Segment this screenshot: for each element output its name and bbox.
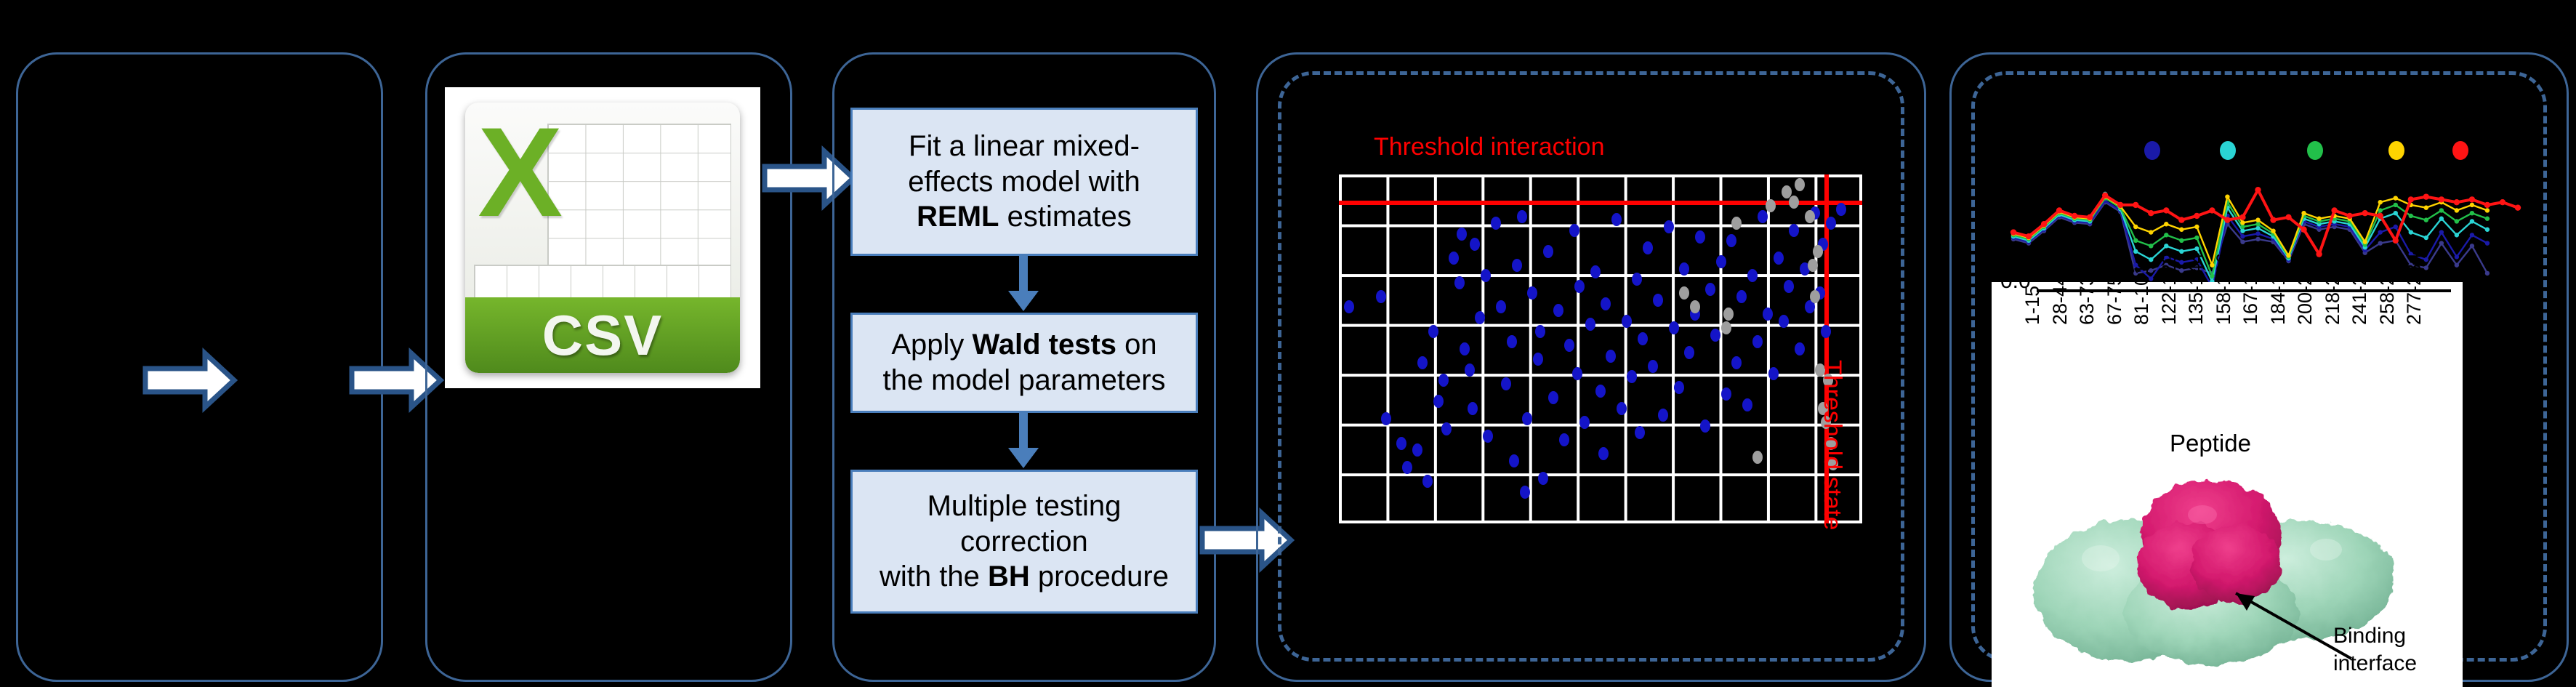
chart-marker bbox=[2394, 203, 2398, 207]
step-correction-emphasis: BH bbox=[988, 561, 1030, 592]
chart-marker bbox=[2394, 225, 2398, 229]
scatter-point bbox=[1438, 374, 1449, 387]
arrow-model-to-wald bbox=[1005, 256, 1042, 313]
peptide-tick-label: 28-44 bbox=[2049, 275, 2072, 325]
chart-marker bbox=[2470, 233, 2474, 237]
scatter-chart[interactable]: Threshold interaction Threshold state bbox=[1294, 109, 1890, 603]
step-correction-box[interactable]: Multiple testing correction with the BH … bbox=[850, 470, 1198, 614]
scatter-point bbox=[1512, 259, 1522, 272]
flowchart-canvas: X CSV Fit a linear mixed- effects model … bbox=[0, 0, 2576, 687]
chart-marker bbox=[2255, 217, 2260, 222]
scatter-point bbox=[1808, 259, 1818, 272]
chart-marker bbox=[2424, 205, 2428, 209]
chart-marker bbox=[2455, 208, 2459, 212]
chart-marker bbox=[2149, 257, 2153, 262]
scatter-point bbox=[1716, 255, 1726, 268]
chart-marker bbox=[2149, 230, 2153, 234]
scatter-point bbox=[1527, 286, 1537, 300]
peptide-tick-label: 167-180 bbox=[2239, 253, 2262, 325]
chart-marker bbox=[2194, 236, 2199, 240]
chart-marker bbox=[2470, 244, 2474, 248]
scatter-point bbox=[1520, 486, 1530, 499]
chart-marker bbox=[2515, 204, 2521, 210]
step-correction-line2: correction bbox=[960, 526, 1088, 558]
chart-marker bbox=[2240, 220, 2245, 225]
chart-marker bbox=[2179, 228, 2183, 232]
scatter-point bbox=[1598, 447, 1609, 460]
chart-marker bbox=[2362, 239, 2367, 244]
scatter-point bbox=[1507, 335, 1517, 348]
chart-marker bbox=[2470, 219, 2474, 223]
chart-marker bbox=[2149, 244, 2153, 248]
chart-marker bbox=[2178, 217, 2184, 222]
peptide-tick-label: 81-101 bbox=[2130, 264, 2153, 325]
scatter-point bbox=[1569, 224, 1579, 237]
scatter-point bbox=[1590, 265, 1601, 278]
chart-marker bbox=[2255, 222, 2260, 226]
scatter-point bbox=[1564, 339, 1574, 352]
chart-marker bbox=[2455, 262, 2459, 267]
chart-marker bbox=[2331, 207, 2337, 213]
scatter-point bbox=[1768, 367, 1779, 380]
y-axis-tick-label: 0.0 bbox=[2000, 269, 2031, 294]
scatter-point bbox=[1836, 203, 1846, 216]
scatter-point bbox=[1821, 325, 1831, 338]
chart-marker bbox=[2301, 211, 2306, 215]
chart-marker bbox=[2409, 230, 2413, 234]
chart-marker bbox=[2255, 226, 2260, 230]
chart-marker bbox=[2285, 214, 2291, 220]
scatter-point-layer bbox=[1339, 174, 1862, 523]
scatter-point bbox=[1674, 381, 1684, 394]
scatter-point bbox=[1795, 342, 1805, 355]
csv-format-band: CSV bbox=[465, 297, 740, 373]
scatter-point bbox=[1690, 300, 1700, 313]
chart-marker bbox=[2163, 207, 2169, 213]
step-wald-text: Apply Wald tests on the model parameters bbox=[882, 327, 1165, 398]
chart-marker bbox=[2239, 214, 2245, 220]
chart-marker bbox=[2133, 249, 2138, 254]
chart-marker bbox=[2026, 233, 2032, 239]
threshold-state-label: Threshold state bbox=[1818, 360, 1846, 530]
scatter-point bbox=[1635, 426, 1645, 439]
scatter-point bbox=[1396, 437, 1406, 450]
scatter-point bbox=[1457, 228, 1467, 241]
chart-marker bbox=[2470, 211, 2474, 215]
chart-marker bbox=[2011, 229, 2016, 235]
chart-marker bbox=[2270, 217, 2276, 222]
scatter-point bbox=[1412, 443, 1422, 457]
scatter-point bbox=[1752, 451, 1763, 464]
scatter-point bbox=[1789, 196, 1799, 209]
scatter-point bbox=[1679, 286, 1689, 300]
peptide-uptake-chart[interactable] bbox=[1993, 153, 2531, 298]
scatter-point bbox=[1433, 395, 1444, 408]
scatter-point bbox=[1810, 290, 1820, 303]
peptide-tick-label: 63-73 bbox=[2076, 275, 2098, 325]
scatter-point bbox=[1585, 318, 1595, 331]
scatter-point bbox=[1481, 269, 1491, 282]
binding-interface-line1: Binding bbox=[2333, 624, 2406, 648]
chart-marker bbox=[2255, 187, 2261, 193]
peptide-axis-title: Peptide bbox=[2170, 430, 2251, 457]
scatter-point bbox=[1483, 430, 1493, 443]
scatter-point bbox=[1648, 360, 1658, 373]
scatter-point bbox=[1376, 290, 1386, 303]
scatter-point bbox=[1553, 304, 1563, 317]
scatter-plot-area bbox=[1339, 174, 1862, 523]
step-correction-line1: Multiple testing bbox=[927, 490, 1122, 522]
scatter-point bbox=[1501, 377, 1511, 390]
scatter-point bbox=[1726, 234, 1736, 247]
chart-marker bbox=[2133, 238, 2138, 243]
scatter-point bbox=[1611, 213, 1622, 226]
scatter-point bbox=[1449, 252, 1459, 265]
step-correction-line3c: procedure bbox=[1030, 561, 1169, 592]
chart-marker bbox=[2164, 244, 2168, 248]
scatter-point bbox=[1774, 252, 1784, 265]
scatter-point bbox=[1710, 329, 1720, 342]
scatter-point bbox=[1627, 370, 1637, 383]
threshold-interaction-label: Threshold interaction bbox=[1374, 133, 1605, 161]
chart-marker bbox=[2133, 225, 2138, 229]
chart-marker bbox=[2485, 217, 2490, 221]
scatter-point bbox=[1747, 269, 1758, 282]
scatter-point bbox=[1465, 363, 1475, 377]
chart-marker bbox=[2133, 202, 2138, 208]
scatter-point bbox=[1779, 315, 1789, 328]
chart-marker bbox=[2164, 222, 2168, 226]
structure-figure-card: 1-1528-4463-7367-7581-101122-129135-1441… bbox=[1992, 282, 2463, 687]
chart-marker bbox=[2194, 213, 2199, 219]
chart-marker bbox=[2485, 208, 2490, 212]
scatter-point bbox=[1548, 391, 1558, 404]
binding-interface-line2: interface bbox=[2333, 651, 2417, 675]
scatter-point bbox=[1441, 422, 1452, 435]
scatter-point bbox=[1402, 461, 1412, 474]
chart-marker bbox=[2087, 214, 2093, 220]
scatter-point bbox=[1344, 300, 1354, 313]
scatter-point bbox=[1742, 398, 1752, 411]
chart-marker bbox=[2469, 196, 2475, 202]
chart-marker bbox=[2164, 233, 2168, 237]
scatter-point bbox=[1632, 273, 1642, 286]
scatter-point bbox=[1470, 238, 1480, 251]
chart-marker bbox=[2439, 208, 2444, 212]
csv-file-card[interactable]: X CSV bbox=[445, 87, 760, 388]
scatter-point bbox=[1721, 321, 1731, 334]
scatter-point bbox=[1684, 346, 1694, 359]
chart-marker bbox=[2485, 241, 2490, 245]
chart-marker bbox=[2454, 199, 2460, 205]
scatter-point bbox=[1535, 325, 1545, 338]
scatter-point bbox=[1574, 280, 1585, 293]
peptide-tick-label: 184-199 bbox=[2267, 253, 2290, 325]
binding-interface-caption: Binding interface bbox=[2333, 622, 2417, 677]
chart-marker bbox=[2117, 202, 2123, 208]
scatter-point bbox=[1460, 342, 1470, 355]
peptide-tick-label: 122-129 bbox=[2158, 253, 2181, 325]
scatter-point bbox=[1381, 412, 1391, 425]
scatter-point bbox=[1826, 217, 1836, 230]
chart-marker bbox=[2041, 221, 2047, 227]
scatter-point bbox=[1700, 419, 1710, 433]
peptide-tick-label: 200-214 bbox=[2294, 253, 2317, 325]
scatter-point bbox=[1789, 224, 1799, 237]
scatter-point bbox=[1428, 325, 1438, 338]
chart-marker bbox=[2148, 210, 2154, 216]
step-wald-box[interactable]: Apply Wald tests on the model parameters bbox=[850, 313, 1198, 413]
scatter-point bbox=[1731, 217, 1742, 230]
peptide-uptake-legend bbox=[1993, 138, 2531, 167]
scatter-point bbox=[1496, 300, 1506, 313]
scatter-point bbox=[1638, 332, 1648, 345]
scatter-point bbox=[1606, 350, 1616, 363]
scatter-point bbox=[1705, 283, 1715, 296]
chart-marker bbox=[2102, 193, 2108, 198]
chart-marker bbox=[2470, 203, 2474, 207]
excel-x-icon: X bbox=[476, 108, 564, 238]
peptide-tick-label: 67-75 bbox=[2104, 275, 2126, 325]
chart-marker bbox=[2194, 225, 2199, 229]
csv-file-icon: X CSV bbox=[465, 103, 740, 374]
scatter-point bbox=[1522, 412, 1532, 425]
chart-marker bbox=[2393, 238, 2399, 244]
step-model-line2: effects model with bbox=[908, 166, 1140, 198]
scatter-point bbox=[1658, 409, 1668, 422]
step-correction-text: Multiple testing correction with the BH … bbox=[880, 489, 1169, 595]
step-model-line1: Fit a linear mixed- bbox=[909, 130, 1140, 162]
chart-marker bbox=[2224, 217, 2230, 222]
peptide-tick-label: 158-166 bbox=[2213, 253, 2235, 325]
input-panel[interactable] bbox=[16, 52, 383, 682]
chart-marker bbox=[2346, 213, 2352, 219]
chart-marker bbox=[2485, 271, 2490, 276]
scatter-point bbox=[1475, 311, 1485, 324]
chart-marker bbox=[2255, 231, 2260, 236]
scatter-point bbox=[1559, 433, 1569, 446]
scatter-point bbox=[1417, 356, 1428, 369]
chart-marker bbox=[2439, 196, 2444, 202]
scatter-point bbox=[1601, 297, 1611, 310]
chart-marker bbox=[2423, 193, 2429, 199]
step-wald-line1c: on bbox=[1116, 329, 1157, 361]
step-model-line3b: estimates bbox=[999, 201, 1132, 233]
chart-marker bbox=[2378, 213, 2383, 219]
peptide-tick-label: 258-266 bbox=[2376, 253, 2399, 325]
chart-marker bbox=[2484, 202, 2490, 208]
arrow-wald-to-correction bbox=[1005, 413, 1042, 470]
scatter-point bbox=[1766, 199, 1776, 212]
chart-marker bbox=[2485, 228, 2490, 232]
scatter-point bbox=[1543, 245, 1553, 258]
scatter-point bbox=[1491, 217, 1501, 230]
scatter-point bbox=[1622, 315, 1632, 328]
scatter-point bbox=[1805, 210, 1815, 223]
legend-dot bbox=[2452, 141, 2468, 160]
chart-marker bbox=[2394, 196, 2398, 200]
chart-marker bbox=[2455, 254, 2459, 259]
scatter-point bbox=[1752, 335, 1763, 348]
scatter-point bbox=[1736, 290, 1747, 303]
step-wald-line1a: Apply bbox=[891, 329, 972, 361]
peptide-xtick-labels: 1-1528-4463-7367-7581-101122-129135-1441… bbox=[1992, 282, 2463, 427]
legend-dot bbox=[2307, 141, 2323, 160]
scatter-point bbox=[1731, 356, 1742, 369]
scatter-point bbox=[1643, 241, 1653, 254]
chart-marker bbox=[2424, 217, 2428, 222]
step-correction-line3a: with the bbox=[880, 561, 988, 592]
legend-dot bbox=[2388, 141, 2404, 160]
scatter-point bbox=[1617, 402, 1627, 415]
chart-marker bbox=[2500, 199, 2505, 205]
scatter-point bbox=[1533, 353, 1543, 366]
step-model-box[interactable]: Fit a linear mixed- effects model with R… bbox=[850, 108, 1198, 256]
scatter-point bbox=[1538, 472, 1548, 485]
legend-dot bbox=[2220, 141, 2236, 160]
peptide-tick-label: 218-237 bbox=[2322, 253, 2344, 325]
chart-marker bbox=[2194, 246, 2199, 251]
csv-format-label: CSV bbox=[542, 302, 663, 369]
scatter-point bbox=[1763, 308, 1773, 321]
chart-marker bbox=[2056, 207, 2062, 213]
chart-marker bbox=[2378, 230, 2383, 234]
chart-marker bbox=[2317, 217, 2321, 221]
scatter-point bbox=[1509, 454, 1519, 467]
scatter-point bbox=[1813, 245, 1823, 258]
chart-marker bbox=[2439, 230, 2444, 234]
chart-marker bbox=[2271, 228, 2275, 233]
scatter-point bbox=[1572, 367, 1582, 380]
scatter-point bbox=[1579, 416, 1590, 429]
scatter-point bbox=[1454, 276, 1465, 289]
scatter-point bbox=[1422, 475, 1433, 488]
scatter-point bbox=[1669, 321, 1679, 334]
step-wald-emphasis: Wald tests bbox=[973, 329, 1117, 361]
chart-marker bbox=[2439, 217, 2444, 221]
chart-marker bbox=[2301, 227, 2306, 233]
scatter-point bbox=[1517, 210, 1527, 223]
chart-marker bbox=[2408, 196, 2414, 202]
chart-marker bbox=[2424, 236, 2428, 240]
chart-marker bbox=[2240, 228, 2245, 233]
chart-marker bbox=[2455, 219, 2459, 223]
scatter-point bbox=[1784, 280, 1794, 293]
step-wald-line2: the model parameters bbox=[882, 364, 1165, 396]
chart-marker bbox=[2409, 214, 2413, 218]
peptide-tick-label: 277-284 bbox=[2403, 253, 2426, 325]
chart-marker bbox=[2394, 211, 2398, 215]
chart-marker bbox=[2225, 194, 2229, 198]
chart-marker bbox=[2240, 239, 2245, 244]
chart-marker bbox=[2179, 238, 2183, 243]
scatter-point bbox=[1595, 385, 1606, 398]
scatter-point bbox=[1758, 210, 1768, 223]
chart-marker bbox=[2439, 241, 2444, 245]
step-model-emphasis: REML bbox=[917, 201, 999, 233]
chart-marker bbox=[2240, 234, 2245, 238]
scatter-point bbox=[1721, 387, 1731, 401]
peptide-uptake-chart-svg bbox=[1993, 153, 2531, 298]
chart-marker bbox=[2240, 225, 2245, 229]
legend-dot bbox=[2144, 141, 2160, 160]
scatter-point bbox=[1695, 230, 1705, 244]
chart-marker bbox=[2455, 233, 2459, 237]
scatter-point bbox=[1723, 308, 1734, 321]
chart-marker bbox=[2378, 241, 2383, 245]
chart-marker bbox=[2362, 210, 2367, 216]
chart-marker bbox=[2072, 213, 2077, 219]
scatter-point bbox=[1795, 178, 1805, 191]
chart-marker bbox=[2378, 200, 2383, 204]
scatter-point bbox=[1653, 294, 1663, 307]
scatter-point bbox=[1679, 262, 1689, 276]
chart-marker bbox=[2255, 237, 2260, 241]
scatter-point bbox=[1664, 220, 1674, 233]
chart-marker bbox=[2209, 207, 2215, 213]
step-model-text: Fit a linear mixed- effects model with R… bbox=[908, 129, 1140, 235]
peptide-tick-label: 135-144 bbox=[2185, 253, 2207, 325]
peptide-tick-label: 241-257 bbox=[2348, 253, 2371, 325]
scatter-point bbox=[1468, 402, 1478, 415]
